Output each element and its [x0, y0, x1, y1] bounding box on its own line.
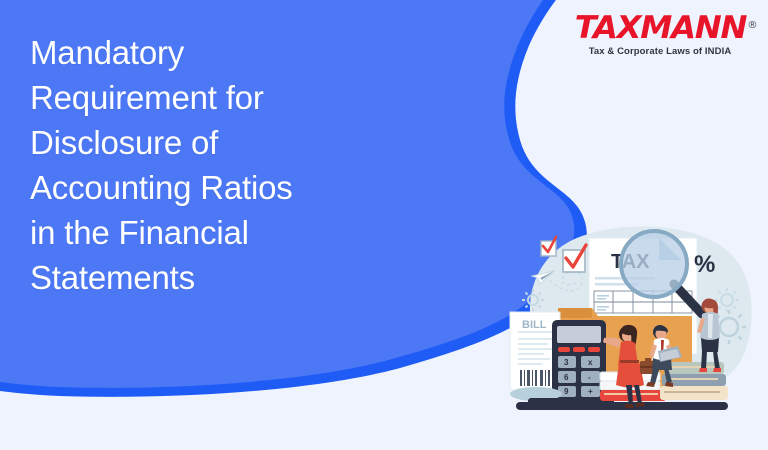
- floor-bar: [516, 402, 728, 410]
- svg-text:+: +: [588, 387, 593, 396]
- logo-wordmark: TAXMANN ®: [574, 12, 746, 45]
- checkbox-small[interactable]: [541, 237, 556, 256]
- taxmann-logo[interactable]: TAXMANN ® Tax & Corporate Laws of INDIA: [570, 12, 750, 57]
- logo-tagline: Tax & Corporate Laws of INDIA: [570, 46, 750, 57]
- logo-brand-text: TAXMANN: [574, 10, 746, 46]
- registered-trademark-icon: ®: [747, 9, 757, 42]
- svg-text:3: 3: [564, 358, 569, 367]
- bill-label: BILL: [522, 319, 547, 331]
- tax-audit-illustration: TAX: [496, 222, 764, 422]
- svg-text:-: -: [588, 373, 591, 382]
- svg-text:6: 6: [564, 373, 569, 382]
- page-title: Mandatory Requirement for Disclosure of …: [30, 30, 430, 300]
- svg-text:9: 9: [564, 387, 569, 396]
- banner-root: Mandatory Requirement for Disclosure of …: [0, 0, 768, 450]
- barcode-icon: [520, 370, 550, 386]
- percent-symbol: %: [694, 251, 715, 278]
- svg-text:x: x: [588, 358, 593, 367]
